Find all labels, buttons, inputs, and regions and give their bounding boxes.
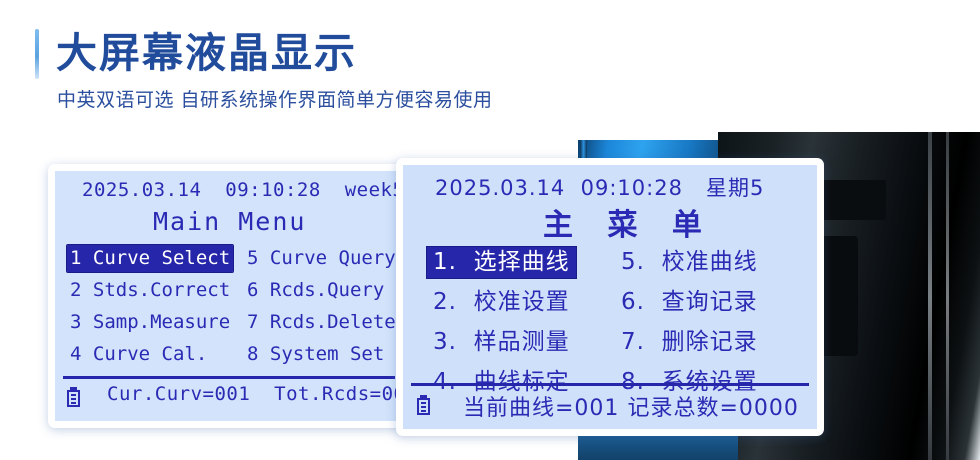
device-seam-2 <box>946 132 949 460</box>
header-accent-bar <box>35 29 39 79</box>
en-menu-item-1[interactable]: 1 Curve Select <box>67 247 233 269</box>
cn-menu-item-2[interactable]: 2. 校准设置 <box>427 289 570 316</box>
en-menu-item-3-label: Samp.Measure <box>93 311 230 333</box>
header: 大屏幕液晶显示 中英双语可选 自研系统操作界面简单方便容易使用 <box>0 0 640 130</box>
cn-menu-item-7-index: 7. <box>621 329 645 355</box>
en-menu-title: Main Menu <box>153 207 306 236</box>
page-subtitle: 中英双语可选 自研系统操作界面简单方便容易使用 <box>57 87 493 113</box>
en-menu-item-1-text: 1 Curve Select <box>67 245 233 272</box>
page-title: 大屏幕液晶显示 <box>56 27 357 79</box>
cn-menu-item-1[interactable]: 1. 选择曲线 <box>427 249 576 276</box>
en-menu-item-7-index: 7 <box>247 311 258 333</box>
battery-icon <box>67 387 80 407</box>
en-menu-item-3[interactable]: 3 Samp.Measure <box>67 311 230 333</box>
en-menu-item-6[interactable]: 6 Rcds.Query <box>247 279 384 301</box>
cn-total-records: 记录总数=0000 <box>627 396 798 421</box>
en-total-records: Tot.Rcds=0000 <box>274 383 403 405</box>
battery-icon <box>417 395 430 415</box>
cn-menu-item-2-label: 校准设置 <box>474 289 570 315</box>
en-menu-item-8[interactable]: 8 System Set <box>247 343 384 365</box>
cn-menu-item-5-index: 5. <box>621 249 645 275</box>
cn-menu-title: 主 菜 单 <box>543 200 714 244</box>
cn-menu-item-6-label: 查询记录 <box>662 289 758 315</box>
cn-menu-item-6[interactable]: 6. 查询记录 <box>621 289 758 316</box>
cn-weekday: 星期5 <box>706 176 764 200</box>
en-menu-item-5-index: 5 <box>247 247 258 269</box>
screenshot-root: 大屏幕液晶显示 中英双语可选 自研系统操作界面简单方便容易使用 测定仪 线 录 … <box>0 0 980 460</box>
en-menu-item-3-index: 3 <box>70 311 81 333</box>
cn-menu-item-6-index: 6. <box>621 289 645 315</box>
cn-date: 2025.03.14 <box>435 176 565 200</box>
en-status-divider <box>63 376 395 379</box>
lcd-english: 2025.03.14 09:10:28 week5 Main Menu 1 Cu… <box>48 164 410 428</box>
en-menu-item-5[interactable]: 5 Curve Query <box>247 247 396 269</box>
lcd-chinese: 2025.03.14 09:10:28 星期5 主 菜 单 1. 选择曲线 2.… <box>396 158 824 436</box>
en-menu-item-4-label: Curve Cal. <box>93 343 207 365</box>
cn-menu-item-4-index: 4. <box>433 369 457 395</box>
en-time: 09:10:28 <box>225 179 321 201</box>
en-menu-item-8-label: System Set <box>270 343 384 365</box>
cn-status-date: 2025.03.14 09:10:28 星期5 <box>435 172 764 202</box>
cn-menu-item-2-index: 2. <box>433 289 457 315</box>
cn-menu-item-5-label: 校准曲线 <box>662 249 758 275</box>
en-status-date: 2025.03.14 09:10:28 week5 <box>82 179 403 201</box>
en-menu-item-8-index: 8 <box>247 343 258 365</box>
device-seam-1 <box>928 132 932 460</box>
cn-menu-item-5[interactable]: 5. 校准曲线 <box>621 249 758 276</box>
cn-status-divider <box>411 383 809 386</box>
cn-menu-item-3[interactable]: 3. 样品测量 <box>427 329 570 356</box>
en-status-bar: Cur.Curv=001 Tot.Rcds=0000 <box>107 383 403 405</box>
en-menu-item-6-index: 6 <box>247 279 258 301</box>
cn-time: 09:10:28 <box>581 176 683 200</box>
en-menu-item-5-label: Curve Query <box>270 247 396 269</box>
cn-menu-item-7[interactable]: 7. 删除记录 <box>621 329 758 356</box>
en-weekday: week5 <box>345 179 403 201</box>
en-menu-item-6-label: Rcds.Query <box>270 279 384 301</box>
en-menu-item-7[interactable]: 7 Rcds.Delete <box>247 311 396 333</box>
lcd-english-screen: 2025.03.14 09:10:28 week5 Main Menu 1 Cu… <box>55 171 403 421</box>
cn-menu-item-3-index: 3. <box>433 329 457 355</box>
en-date: 2025.03.14 <box>82 179 201 201</box>
lcd-chinese-screen: 2025.03.14 09:10:28 星期5 主 菜 单 1. 选择曲线 2.… <box>403 165 817 429</box>
cn-menu-item-1-text: 1. 选择曲线 <box>427 247 576 278</box>
en-menu-item-4[interactable]: 4 Curve Cal. <box>67 343 207 365</box>
cn-status-bar: 当前曲线=001 记录总数=0000 <box>463 390 799 422</box>
en-menu-item-2-label: Stds.Correct <box>93 279 230 301</box>
cn-menu-item-7-label: 删除记录 <box>662 329 758 355</box>
cn-current-curve: 当前曲线=001 <box>463 396 619 421</box>
cn-menu-item-3-label: 样品测量 <box>474 329 570 355</box>
en-menu-item-2-index: 2 <box>70 279 81 301</box>
en-menu-item-2[interactable]: 2 Stds.Correct <box>67 279 230 301</box>
en-menu-item-4-index: 4 <box>70 343 81 365</box>
en-current-curve: Cur.Curv=001 <box>107 383 250 405</box>
en-menu-item-7-label: Rcds.Delete <box>270 311 396 333</box>
